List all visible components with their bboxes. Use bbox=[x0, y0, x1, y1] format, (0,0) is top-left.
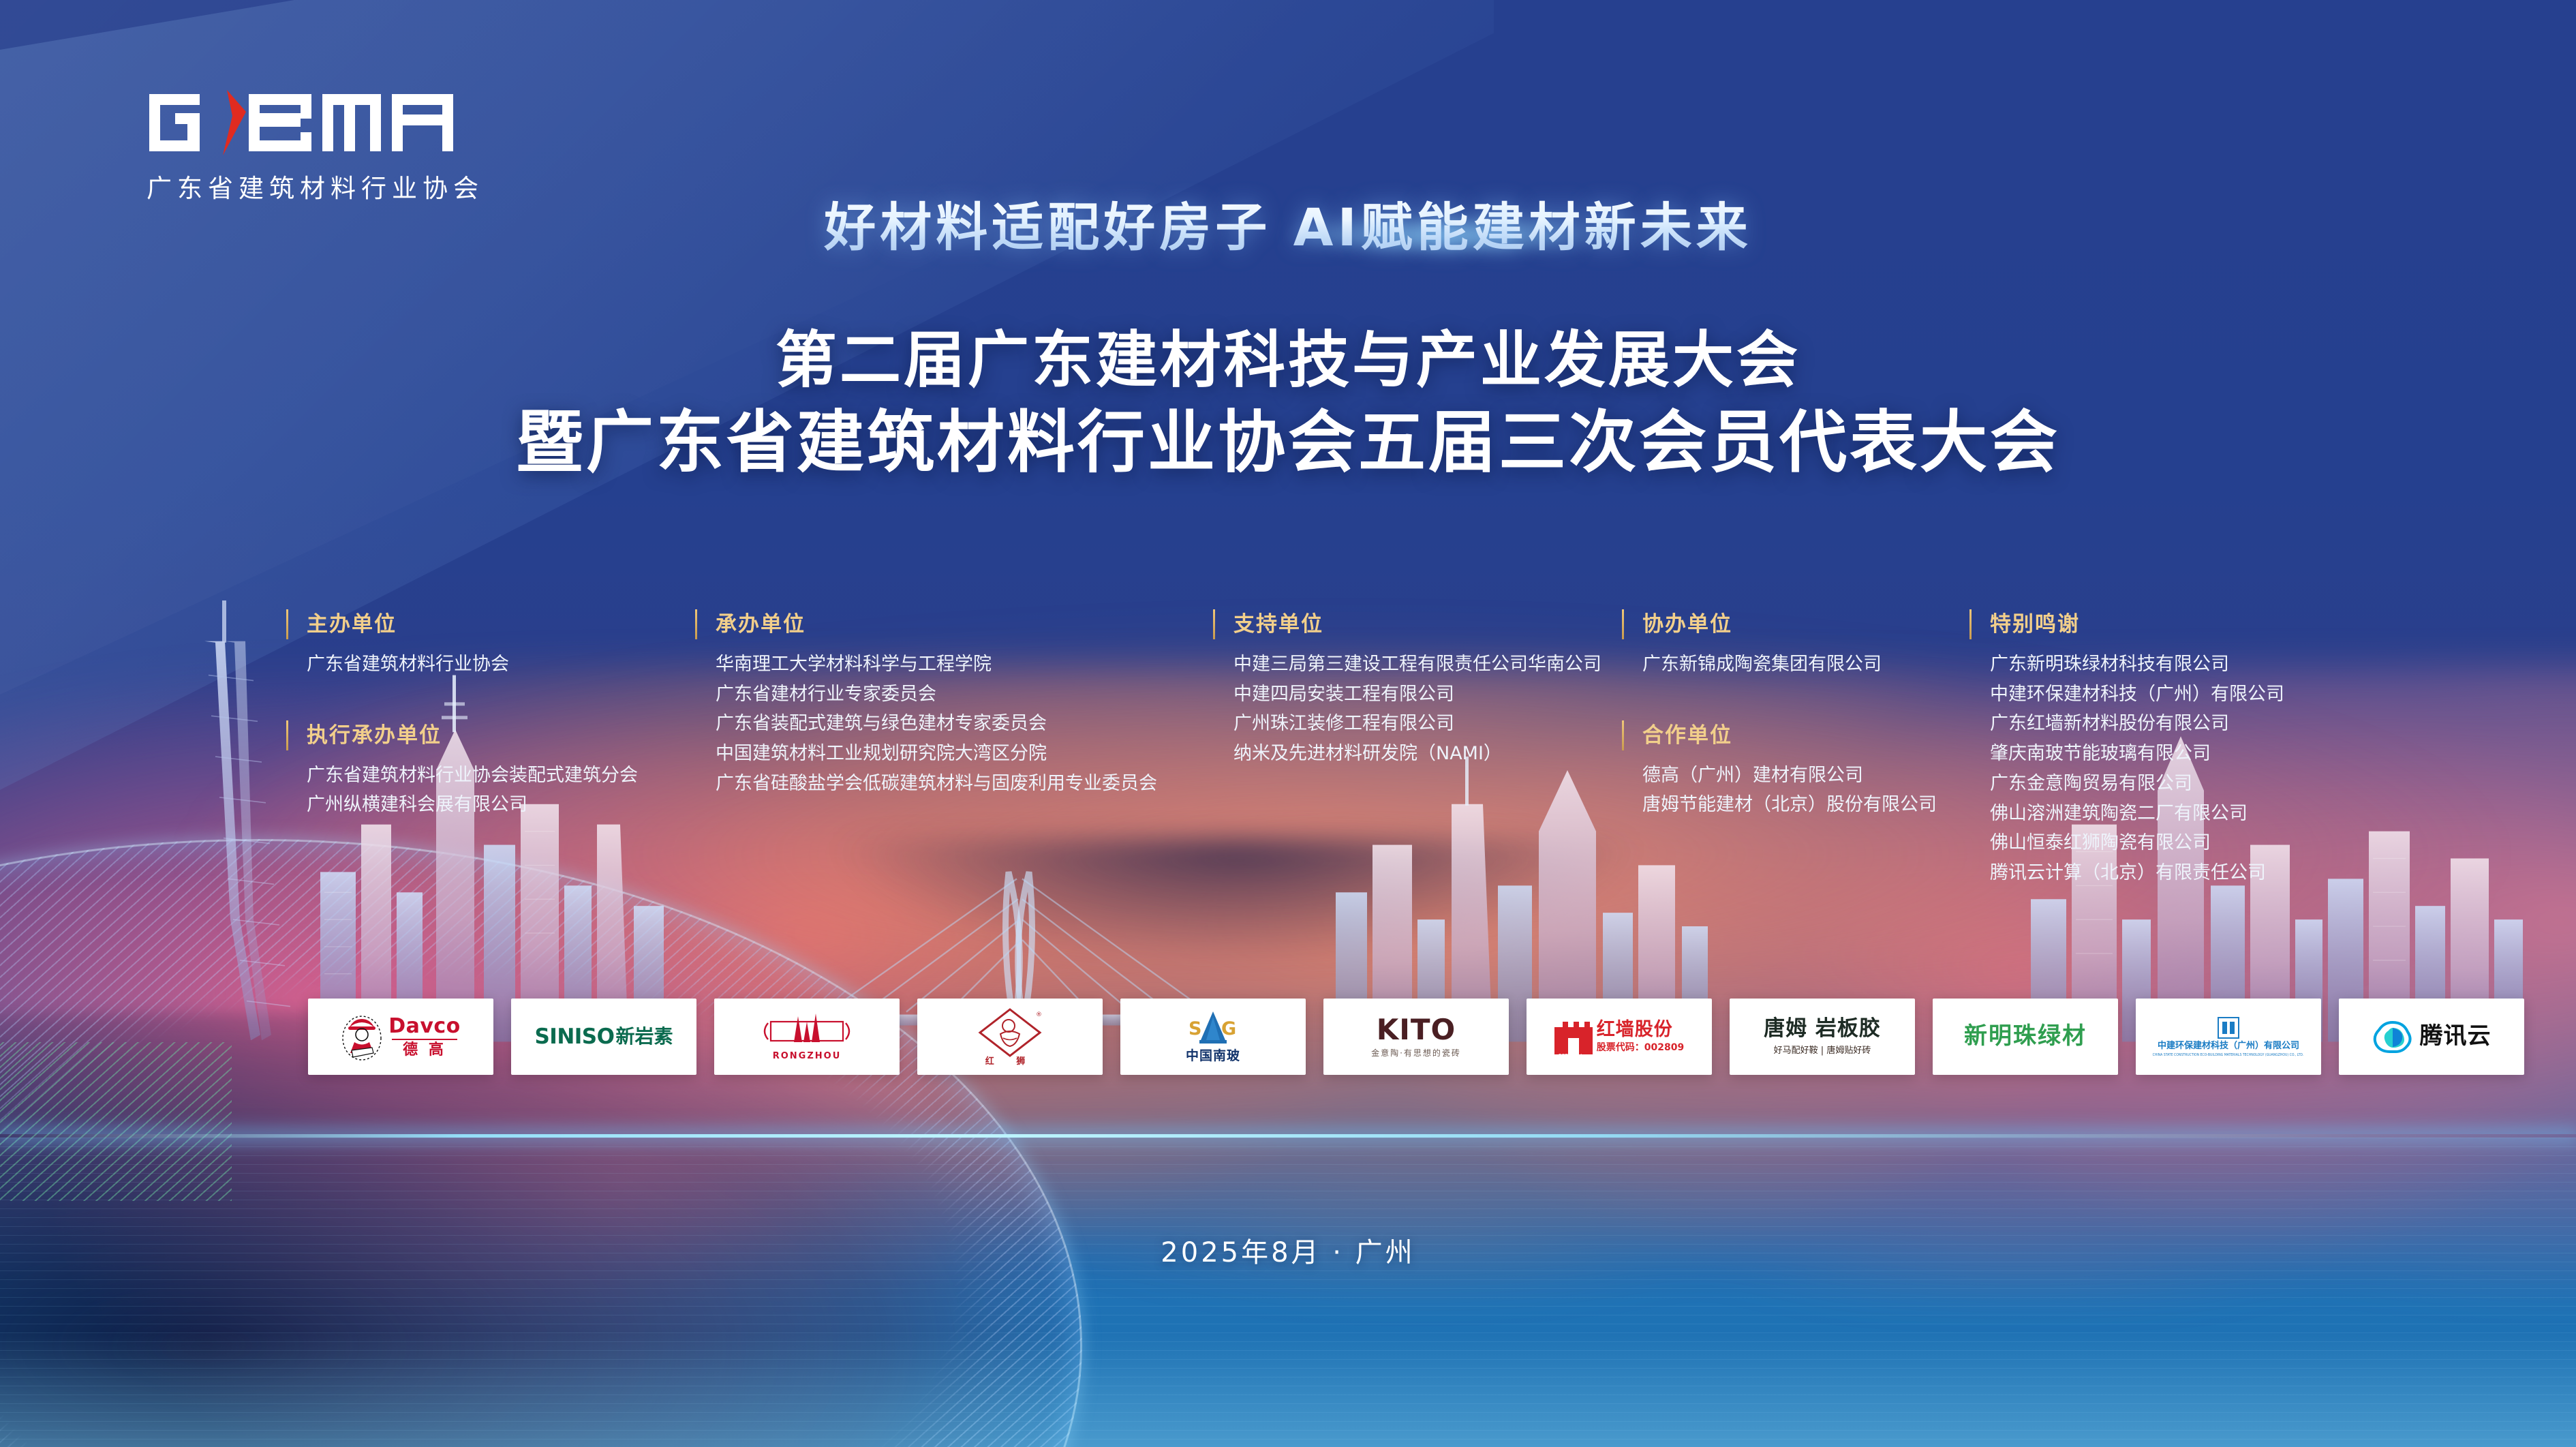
hongqiang-latin-text: RED WALL bbox=[1559, 1053, 1583, 1058]
org-group-heading: 特别鸣谢 bbox=[1990, 607, 2324, 637]
water-bottom-glow bbox=[0, 1331, 2576, 1447]
org-item: 中建环保建材科技（广州）有限公司 bbox=[1990, 680, 2324, 710]
hongqiang-stock-code: 股票代码：002809 bbox=[1597, 1043, 1684, 1053]
org-group-partner: 合作单位 德高（广州）建材有限公司 唐姆节能建材（北京）股份有限公司 bbox=[1622, 718, 1969, 820]
svg-text:®: ® bbox=[1036, 1011, 1042, 1018]
org-column-1: 主办单位 广东省建筑材料行业协会 执行承办单位 广东省建筑材料行业协会装配式建筑… bbox=[286, 607, 695, 820]
org-group-list: 德高（广州）建材有限公司 唐姆节能建材（北京）股份有限公司 bbox=[1642, 761, 1969, 820]
sponsor-logo-kito: KITO 金意陶·有思想的瓷砖 bbox=[1323, 999, 1509, 1075]
org-group-coorganizer: 协办单位 广东新锦成陶瓷集团有限公司 bbox=[1642, 607, 1969, 680]
org-group-list: 广东省建筑材料行业协会 bbox=[307, 650, 695, 680]
sponsor-logo-tangmu: 唐姆 岩板胶 好马配好鞍 | 唐姆贴好砖 bbox=[1730, 999, 1915, 1075]
org-item: 广东金意陶贸易有限公司 bbox=[1990, 769, 2324, 799]
org-item: 纳米及先进材料研发院（NAMI） bbox=[1233, 739, 1622, 769]
davco-mascot-icon bbox=[341, 1012, 383, 1061]
org-item: 广州纵横建科会展有限公司 bbox=[307, 790, 695, 820]
org-column-2: 承办单位 华南理工大学材料科学与工程学院 广东省建材行业专家委员会 广东省装配式… bbox=[695, 607, 1213, 799]
event-date-location: 2025年8月 · 广州 bbox=[0, 1230, 2576, 1270]
org-group-heading: 主办单位 bbox=[307, 607, 695, 637]
sponsor-logo-csg: S G 中国南玻 bbox=[1120, 999, 1306, 1075]
rongzhou-latin-text: RONGZHOU bbox=[773, 1052, 842, 1061]
davco-cn-text: 德 高 bbox=[403, 1042, 446, 1058]
event-title-line-2: 暨广东省建筑材料行业协会五届三次会员代表大会 bbox=[0, 400, 2576, 487]
sponsor-logo-siniso: SINISO 新岩素 bbox=[511, 999, 696, 1075]
event-title-line-1: 第二届广东建材科技与产业发展大会 bbox=[0, 320, 2576, 400]
org-group-heading: 协办单位 bbox=[1642, 607, 1969, 637]
organizations-grid: 主办单位 广东省建筑材料行业协会 执行承办单位 广东省建筑材料行业协会装配式建筑… bbox=[286, 607, 2331, 888]
org-group-heading: 合作单位 bbox=[1642, 718, 1969, 748]
org-item: 广东省装配式建筑与绿色建材专家委员会 bbox=[716, 709, 1213, 739]
hongshi-cn-text: 红 狮 bbox=[985, 1057, 1035, 1067]
hongqiang-castle-icon: RED WALL bbox=[1554, 1015, 1593, 1058]
davco-divider bbox=[392, 1039, 457, 1040]
org-item: 广东省建筑材料行业协会装配式建筑分会 bbox=[307, 761, 695, 791]
org-group-list: 华南理工大学材料科学与工程学院 广东省建材行业专家委员会 广东省装配式建筑与绿色… bbox=[716, 650, 1213, 799]
davco-latin-text: Davco bbox=[388, 1016, 461, 1037]
org-item: 佛山溶洲建筑陶瓷二厂有限公司 bbox=[1990, 799, 2324, 829]
org-group-supporter: 支持单位 中建三局第三建设工程有限责任公司华南公司 中建四局安装工程有限公司 广… bbox=[1233, 607, 1622, 769]
org-group-executive-host: 执行承办单位 广东省建筑材料行业协会装配式建筑分会 广州纵横建科会展有限公司 bbox=[286, 718, 695, 820]
org-item: 广东省建筑材料行业协会 bbox=[307, 650, 695, 680]
org-group-heading: 执行承办单位 bbox=[307, 718, 695, 748]
tangmu-cn-text: 唐姆 岩板胶 bbox=[1764, 1018, 1881, 1040]
org-item: 中建四局安装工程有限公司 bbox=[1233, 680, 1622, 710]
cscec-mark-icon bbox=[2217, 1016, 2240, 1039]
org-column-5: 特别鸣谢 广东新明珠绿材科技有限公司 中建环保建材科技（广州）有限公司 广东红墙… bbox=[1969, 607, 2324, 888]
siniso-cn-text: 新岩素 bbox=[616, 1026, 673, 1046]
svg-text:G: G bbox=[1221, 1018, 1236, 1039]
org-item: 中国建筑材料工业规划研究院大湾区分院 bbox=[716, 739, 1213, 769]
rongzhou-emblem-icon bbox=[756, 1012, 858, 1050]
org-item: 广州珠江装修工程有限公司 bbox=[1233, 709, 1622, 739]
sponsor-logo-davco: Davco 德 高 bbox=[308, 999, 493, 1075]
org-group-heading: 支持单位 bbox=[1233, 607, 1622, 637]
sponsor-logo-strip: Davco 德 高 SINISO 新岩素 bbox=[308, 999, 2524, 1075]
sponsor-logo-rongzhou: RONGZHOU bbox=[714, 999, 900, 1075]
sponsor-logo-zhongjian: 中建环保建材科技（广州）有限公司 CHINA STATE CONSTRUCTIO… bbox=[2136, 999, 2321, 1075]
org-item: 中建三局第三建设工程有限责任公司华南公司 bbox=[1233, 650, 1622, 680]
org-item: 肇庆南玻节能玻璃有限公司 bbox=[1990, 739, 2324, 769]
xinmingzhu-cn-text: 新明珠绿材 bbox=[1964, 1024, 2087, 1049]
sponsor-logo-xinmingzhu: 新明珠绿材 bbox=[1933, 999, 2118, 1075]
org-item: 广东省硅酸盐学会低碳建筑材料与固废利用专业委员会 bbox=[716, 769, 1213, 799]
csg-mountain-icon: S G bbox=[1186, 1010, 1240, 1048]
org-item: 广东红墙新材料股份有限公司 bbox=[1990, 709, 2324, 739]
org-group-list: 广东新明珠绿材科技有限公司 中建环保建材科技（广州）有限公司 广东红墙新材料股份… bbox=[1990, 650, 2324, 888]
gbma-wordmark-icon bbox=[147, 89, 467, 157]
zhongjian-cn-text: 中建环保建材科技（广州）有限公司 bbox=[2158, 1041, 2299, 1051]
siniso-latin-text: SINISO bbox=[534, 1026, 614, 1048]
org-item: 广东新明珠绿材科技有限公司 bbox=[1990, 650, 2324, 680]
org-item: 德高（广州）建材有限公司 bbox=[1642, 761, 1969, 791]
org-column-4: 协办单位 广东新锦成陶瓷集团有限公司 合作单位 德高（广州）建材有限公司 唐姆节… bbox=[1622, 607, 1969, 820]
sponsor-logo-tencent-cloud: 腾讯云 bbox=[2339, 999, 2524, 1075]
event-title-block: 第二届广东建材科技与产业发展大会 暨广东省建筑材料行业协会五届三次会员代表大会 bbox=[0, 320, 2576, 487]
sponsor-logo-hongqiang: RED WALL 红墙股份 股票代码：002809 bbox=[1527, 999, 1712, 1075]
kito-slogan-text: 金意陶·有思想的瓷砖 bbox=[1371, 1047, 1461, 1058]
csg-cn-text: 中国南玻 bbox=[1186, 1050, 1240, 1063]
sponsor-logo-hongshi: ® 红 狮 bbox=[917, 999, 1103, 1075]
conference-backdrop: 广东省建筑材料行业协会 好材料适配好房子 AI赋能建材新未来 第二届广东建材科技… bbox=[0, 0, 2576, 1447]
org-group-organizer: 承办单位 华南理工大学材料科学与工程学院 广东省建材行业专家委员会 广东省装配式… bbox=[716, 607, 1213, 799]
org-item: 腾讯云计算（北京）有限责任公司 bbox=[1990, 858, 2324, 888]
org-item: 华南理工大学材料科学与工程学院 bbox=[716, 650, 1213, 680]
gbma-logo-mark bbox=[147, 89, 467, 157]
hongqiang-cn-text: 红墙股份 bbox=[1597, 1020, 1673, 1039]
org-item: 佛山恒泰红狮陶瓷有限公司 bbox=[1990, 828, 2324, 858]
hongshi-lion-icon: ® bbox=[977, 1007, 1043, 1061]
org-group-list: 广东省建筑材料行业协会装配式建筑分会 广州纵横建科会展有限公司 bbox=[307, 761, 695, 820]
zhongjian-latin-subtext: CHINA STATE CONSTRUCTION ECO-BUILDING MA… bbox=[2153, 1053, 2304, 1057]
org-group-host: 主办单位 广东省建筑材料行业协会 bbox=[307, 607, 695, 680]
tencent-cloud-icon bbox=[2372, 1018, 2413, 1055]
org-item: 唐姆节能建材（北京）股份有限公司 bbox=[1642, 790, 1969, 820]
org-item: 广东省建材行业专家委员会 bbox=[716, 680, 1213, 710]
org-group-list: 中建三局第三建设工程有限责任公司华南公司 中建四局安装工程有限公司 广州珠江装修… bbox=[1233, 650, 1622, 769]
org-group-special-thanks: 特别鸣谢 广东新明珠绿材科技有限公司 中建环保建材科技（广州）有限公司 广东红墙… bbox=[1990, 607, 2324, 888]
kito-latin-text: KITO bbox=[1377, 1015, 1456, 1045]
svg-text:S: S bbox=[1189, 1018, 1201, 1039]
org-group-heading: 承办单位 bbox=[716, 607, 1213, 637]
tencent-cloud-cn-text: 腾讯云 bbox=[2420, 1024, 2491, 1049]
event-tagline: 好材料适配好房子 AI赋能建材新未来 bbox=[0, 185, 2576, 260]
org-column-3: 支持单位 中建三局第三建设工程有限责任公司华南公司 中建四局安装工程有限公司 广… bbox=[1213, 607, 1622, 769]
tangmu-slogan-text: 好马配好鞍 | 唐姆贴好砖 bbox=[1774, 1043, 1871, 1056]
org-group-list: 广东新锦成陶瓷集团有限公司 bbox=[1642, 650, 1969, 680]
org-item: 广东新锦成陶瓷集团有限公司 bbox=[1642, 650, 1969, 680]
